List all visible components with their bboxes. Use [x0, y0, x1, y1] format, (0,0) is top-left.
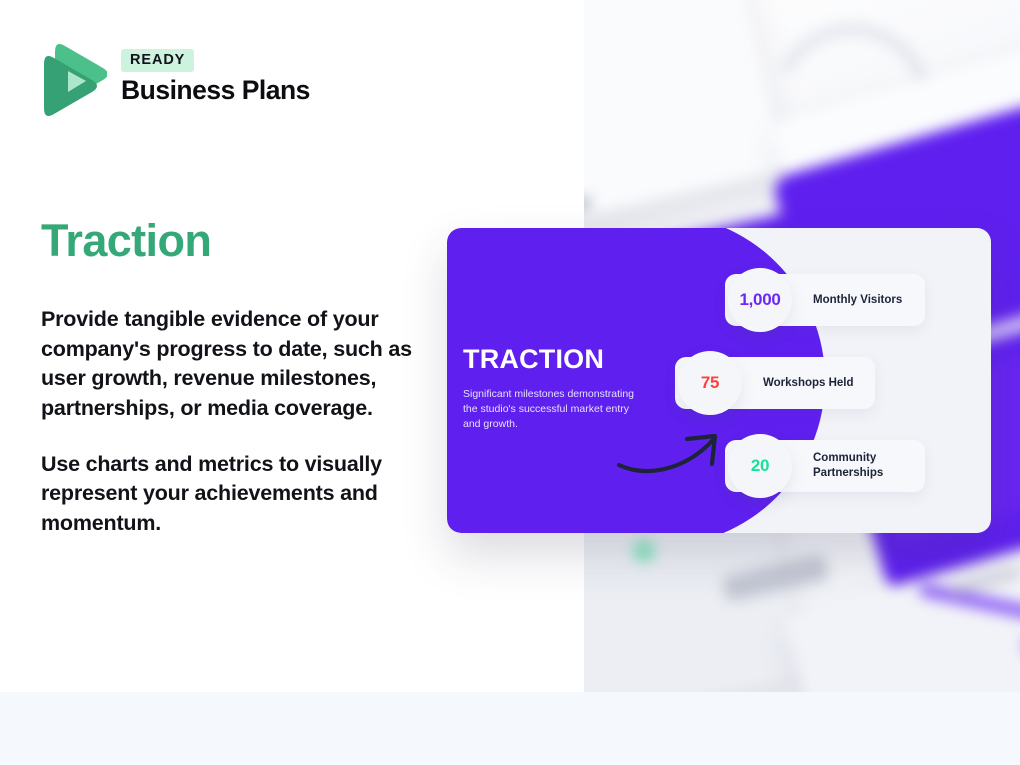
slide-title: TRACTION: [463, 346, 659, 373]
paragraph-2: Use charts and metrics to visually repre…: [41, 450, 441, 539]
paragraph-1: Provide tangible evidence of your compan…: [41, 305, 441, 424]
traction-slide-card[interactable]: TRACTION Significant milestones demonstr…: [447, 228, 991, 533]
brand-text: READY Business Plans: [121, 49, 310, 105]
metric-circle: 75: [678, 351, 742, 415]
metric-item[interactable]: 1,000 Monthly Visitors: [728, 268, 991, 324]
slide-subtitle: Significant milestones demonstrating the…: [463, 387, 643, 433]
bg-dot-mint: [633, 540, 655, 562]
page-title: Traction: [41, 218, 211, 263]
metric-label: Monthly Visitors: [813, 274, 902, 326]
metric-label: Community Partnerships: [813, 440, 918, 492]
metric-value: 1,000: [739, 290, 780, 310]
metric-value: 75: [701, 373, 719, 393]
brand-logo[interactable]: READY Business Plans: [41, 38, 310, 116]
play-triangles-logo-icon: [41, 38, 107, 116]
slide-preview-page: READY Business Plans Traction Provide ta…: [0, 0, 1020, 765]
metric-circle: 20: [728, 434, 792, 498]
metric-item[interactable]: 20 Community Partnerships: [728, 434, 991, 490]
curved-up-arrow-icon: [617, 418, 732, 488]
metric-item[interactable]: 75 Workshops Held: [678, 351, 941, 407]
metric-value: 20: [751, 456, 769, 476]
body-copy: Provide tangible evidence of your compan…: [41, 305, 441, 539]
bg-slide-top-left: [583, 0, 785, 244]
metric-label: Workshops Held: [763, 357, 854, 409]
ready-badge: READY: [121, 49, 194, 72]
brand-name: Business Plans: [121, 77, 310, 105]
bottom-band: [0, 692, 1020, 765]
metric-circle: 1,000: [728, 268, 792, 332]
